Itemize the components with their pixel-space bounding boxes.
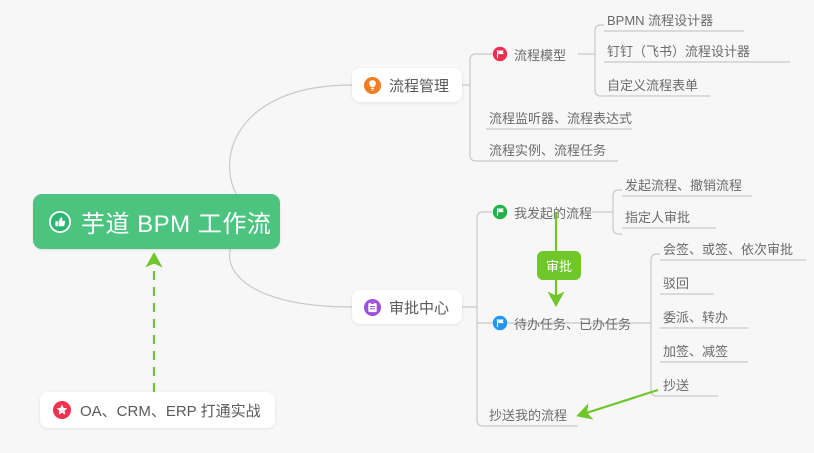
leaf-dingtalk-designer-label: 钉钉（飞书）流程设计器 [604, 41, 752, 62]
node-todo-done-task-label: 待办任务、已办任务 [508, 314, 633, 333]
leaf-process-listener[interactable]: 流程监听器、流程表达式 [486, 109, 634, 129]
leaf-delegate-transfer-label: 委派、转办 [660, 307, 730, 328]
leaf-process-instance-task-label: 流程实例、流程任务 [486, 140, 608, 161]
connector-todo-trunk-top-cap [651, 254, 660, 260]
root-node[interactable]: 芋道 BPM 工作流 [33, 194, 280, 249]
connector-ac-trunk-bot-cap [477, 420, 486, 426]
leaf-dingtalk-designer[interactable]: 钉钉（飞书）流程设计器 [604, 42, 752, 62]
leaf-bpmn-designer-label: BPMN 流程设计器 [604, 10, 715, 31]
leaf-reject-label: 驳回 [660, 273, 691, 294]
leaf-cc-label: 抄送 [660, 375, 691, 396]
leaf-countersign-label: 会签、或签、依次审批 [660, 239, 795, 260]
connector-pm-trunk-top-cap [470, 54, 492, 60]
leaf-delegate-transfer[interactable]: 委派、转办 [660, 308, 730, 328]
branch-process-management[interactable]: 流程管理 [352, 68, 462, 102]
leaf-cc[interactable]: 抄送 [660, 376, 691, 396]
leaf-custom-form[interactable]: 自定义流程表单 [604, 76, 700, 96]
star-icon [52, 400, 72, 420]
node-todo-done-task[interactable]: 待办任务、已办任务 [492, 313, 633, 333]
connector-pmodel-trunk-top-cap [595, 25, 604, 31]
flag-icon [492, 204, 508, 220]
flag-icon [492, 315, 508, 331]
flag-icon [492, 46, 508, 62]
node-process-model-label: 流程模型 [508, 45, 568, 64]
leaf-cc-to-me[interactable]: 抄送我的流程 [486, 406, 569, 426]
leaf-add-remove-sign[interactable]: 加签、减签 [660, 342, 730, 362]
node-my-started-process-label: 我发起的流程 [508, 203, 594, 222]
annotation-tag-approve-label: 审批 [546, 259, 572, 274]
leaf-process-listener-label: 流程监听器、流程表达式 [486, 108, 634, 129]
leaf-start-cancel-process[interactable]: 发起流程、撤销流程 [622, 176, 744, 196]
leaf-start-cancel-process-label: 发起流程、撤销流程 [622, 175, 744, 196]
leaf-custom-form-label: 自定义流程表单 [604, 75, 700, 96]
leaf-reject[interactable]: 驳回 [660, 274, 691, 294]
clipboard-icon [363, 298, 382, 317]
thumbs-up-icon [48, 210, 72, 234]
annotation-tag-approve: 审批 [537, 251, 581, 280]
leaf-cc-to-me-label: 抄送我的流程 [486, 405, 569, 426]
connector-started-trunk-top-cap [613, 190, 622, 196]
connector-pm-trunk-bot-cap [470, 155, 486, 161]
lightbulb-icon [363, 76, 382, 95]
connector-todo-trunk-bot-cap [651, 390, 660, 396]
root-label: 芋道 BPM 工作流 [81, 204, 271, 239]
branch-approval-center-label: 审批中心 [389, 297, 449, 318]
connector-pmodel-trunk-bot-cap [595, 90, 604, 96]
annotation-arrow-cc-to-ccme [580, 390, 658, 415]
node-process-model[interactable]: 流程模型 [492, 44, 568, 64]
leaf-process-instance-task[interactable]: 流程实例、流程任务 [486, 141, 608, 161]
bottom-highlight-card[interactable]: OA、CRM、ERP 打通实战 [40, 392, 275, 428]
connector-ac-trunk-top-cap [477, 212, 492, 218]
leaf-bpmn-designer[interactable]: BPMN 流程设计器 [604, 11, 715, 31]
mindmap-canvas: 芋道 BPM 工作流 OA、CRM、ERP 打通实战 流程管理 [0, 0, 814, 453]
bottom-highlight-label: OA、CRM、ERP 打通实战 [80, 400, 261, 421]
leaf-assignee-approve[interactable]: 指定人审批 [622, 208, 692, 228]
node-my-started-process[interactable]: 我发起的流程 [492, 202, 594, 222]
leaf-countersign[interactable]: 会签、或签、依次审批 [660, 240, 795, 260]
connector-started-trunk-bot-cap [613, 228, 622, 234]
branch-process-management-label: 流程管理 [389, 75, 449, 96]
leaf-add-remove-sign-label: 加签、减签 [660, 341, 730, 362]
leaf-assignee-approve-label: 指定人审批 [622, 207, 692, 228]
branch-approval-center[interactable]: 审批中心 [352, 290, 462, 324]
